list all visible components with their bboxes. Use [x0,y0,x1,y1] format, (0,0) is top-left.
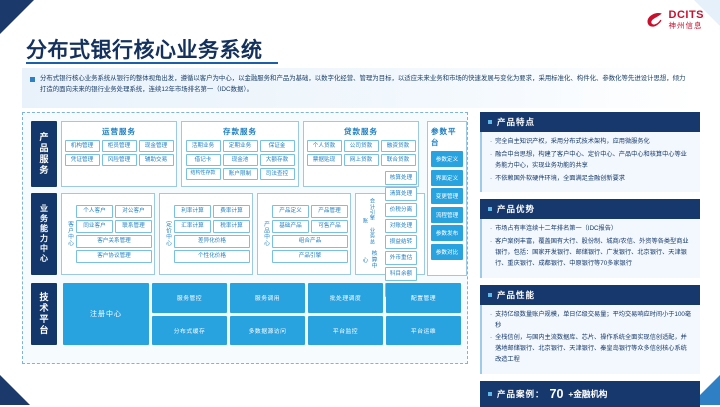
intro-text: 分布式银行核心业务系统从银行的整体视角出发，遵循以客户为中心，以金融服务和产品为… [40,73,690,108]
info-panel: 产品特点 ·完全自主知识产权，采用分布式技术架构，应用微服务化 ·融合中台思想，… [480,112,700,407]
capability-cell[interactable]: 清算处理 [385,187,417,201]
bullet-square-icon [488,120,492,124]
cell-list: 机构管理 柜员管理 现金管理 凭证管理 风险管理 辅助交易 [64,140,174,184]
product-case-number: 70 [550,387,564,401]
service-cell[interactable]: 结构性存款 [186,168,221,180]
list-item-text: 支持亿级数量账户规模，单日亿级交易量；平均交易响应时间小于100毫秒 [495,310,692,332]
list-item: ·支持亿级数量账户规模，单日亿级交易量；平均交易响应时间小于100毫秒 [490,310,692,332]
bullet-square-icon [488,293,492,297]
service-cell[interactable]: 票据贴现 [307,154,342,166]
capability-cell[interactable]: 损益结转 [385,235,417,249]
card-body: ·支持亿级数量账户规模，单日亿级交易量；平均交易响应时间小于100毫秒 ·全栈信… [480,305,700,374]
list-item: ·完全自主知识产权，采用分布式技术架构，应用微服务化 [490,137,692,148]
capability-cell[interactable]: 科目余额 [385,267,417,281]
param-cell[interactable]: 参数发布 [431,225,463,241]
bullet-dot-icon: · [490,174,492,185]
capability-cell[interactable]: 对公客户 [115,205,152,218]
tech-cell[interactable]: 批处理调度 [308,283,383,313]
tech-cell[interactable]: 多数据源访问 [230,316,305,346]
bullet-dot-icon: · [490,310,492,332]
tech-cell[interactable]: 服务管控 [152,283,227,313]
group-operations-services: 运营服务 机构管理 柜员管理 现金管理 凭证管理 风险管理 辅助交易 [61,121,177,187]
param-platform-column: 参数平台 参数定义 界面定义 变更管理 流程管理 参数发布 参数对比 [427,121,467,276]
tech-cell[interactable]: 平台运维 [386,316,461,346]
capability-accounting-center: 会计引擎 业务总账 核算中心 核算处理 清算处理 价税分离 对账处理 损益结转 … [355,193,425,275]
corner-decoration-top-left [0,0,34,34]
group-title: 存款服务 [184,124,296,140]
card-header: 产品性能 [480,285,700,305]
bullet-square-icon [30,77,35,82]
card-header: 产品特点 [480,112,700,132]
capability-cell[interactable]: 税率计算 [213,220,250,233]
layer-tech-platform: 技术平台 注册中心 服务管控 服务调用 批处理调度 配置管理 分布式缓存 多数据… [31,283,461,345]
capability-cell-wide[interactable]: 组合产品 [272,235,348,248]
param-cell[interactable]: 参数对比 [431,244,463,260]
cell-list: 核算处理 清算处理 价税分离 对账处理 损益结转 外币重估 科目余额 月结年结 [380,196,422,272]
param-cell[interactable]: 变更管理 [431,188,463,204]
capability-cell-wide[interactable]: 产品引擎 [272,250,348,263]
bullet-square-icon [488,207,492,211]
page-title: 分布式银行核心业务系统 [26,34,263,64]
intro-banner: 分布式银行核心业务系统从银行的整体视角出发，遵循以客户为中心，以金融服务和产品为… [22,68,698,108]
tech-platform-body: 注册中心 服务管控 服务调用 批处理调度 配置管理 分布式缓存 多数据源访问 平… [63,283,461,345]
logo-text-en: DCITS [669,10,705,21]
service-cell[interactable]: 现金管理 [139,140,174,152]
bullet-square-icon [488,392,492,396]
tech-cell[interactable]: 分布式缓存 [152,316,227,346]
cell-list: 个人客户 对公客户 同业客户 联系管理 客户关系管理 客户协议管理 [76,196,152,272]
capability-cell[interactable]: 基础产品 [272,220,309,233]
logo-text-cn: 神州信息 [669,22,705,30]
capability-customer-center: 客户中心 个人客户 对公客户 同业客户 联系管理 客户关系管理 客户协议管理 [61,193,155,275]
param-cell[interactable]: 流程管理 [431,207,463,223]
tech-cell[interactable]: 平台监控 [308,316,383,346]
list-item-text: 客户案例丰富，覆盖国有大行、股份制、城商/农信、外资等各类型商业银行，包括：国家… [495,237,692,270]
service-cell[interactable]: 融资贷款 [381,140,416,152]
cell-list: 产品定义 产品管理 基础产品 可售产品 组合产品 产品引擎 [272,196,348,272]
capability-side-label: 客户中心 [64,196,76,272]
list-item: ·市场占有率连续十二年排名第一（IDC报告） [490,224,692,235]
service-cell[interactable]: 网上贷款 [344,154,379,166]
capability-side-label: 核算中心 [360,248,378,272]
service-cell[interactable]: 风险管理 [102,154,137,166]
list-item: ·客户案例丰富，覆盖国有大行、股份制、城商/农信、外资等各类型商业银行，包括：国… [490,237,692,270]
card-product-performance: 产品性能 ·支持亿级数量账户规模，单日亿级交易量；平均交易响应时间小于100毫秒… [480,285,700,374]
service-cell[interactable]: 保证金 [260,140,295,152]
service-cell[interactable]: 机构管理 [65,140,100,152]
bullet-dot-icon: · [490,333,492,366]
capability-cell[interactable]: 价税分离 [385,203,417,217]
capability-side-label: 定价中心 [162,196,174,272]
layer-capability-centers: 业务能力中心 客户中心 个人客户 对公客户 同业客户 联系管理 客户关系管理 客… [31,193,425,275]
bullet-dot-icon: · [490,150,492,172]
capability-cell-wide[interactable]: 差异化价格 [174,235,250,248]
card-title: 产品性能 [497,289,535,301]
list-item-text: 市场占有率连续十二年排名第一（IDC报告） [495,224,617,235]
list-item: ·融合中台思想，构建了客户中心、定价中心、产品中心和核算中心等业务能力中心，实现… [490,150,692,172]
layer-label-capability-centers: 业务能力中心 [31,193,57,275]
corner-decoration-bottom-left [0,375,30,405]
service-cell[interactable]: 个人贷款 [307,140,342,152]
card-body: ·完全自主知识产权，采用分布式技术架构，应用微服务化 ·融合中台思想，构建了客户… [480,132,700,192]
capability-product-center: 产品中心 产品定义 产品管理 基础产品 可售产品 组合产品 产品引擎 [257,193,351,275]
capability-cell[interactable]: 利率计算 [174,205,211,218]
list-item-text: 不依赖国外软硬件环境，全面满足金融创新要求 [495,174,625,185]
brand-logo: DCITS 神州信息 [645,10,705,30]
capability-side-label: 产品中心 [260,196,272,272]
capability-cell[interactable]: 产品定义 [272,205,309,218]
title-underline [26,62,278,64]
list-item-text: 全栈信创，与国内主流数据库、芯片、操作系统全面实现信创适配，并落地邮储银行、北京… [495,333,692,366]
capability-cell-wide[interactable]: 客户协议管理 [76,250,152,263]
card-product-features: 产品特点 ·完全自主知识产权，采用分布式技术架构，应用微服务化 ·融合中台思想，… [480,112,700,192]
capability-cell[interactable]: 对账处理 [385,219,417,233]
bullet-dot-icon: · [490,224,492,235]
service-cell[interactable]: 凭证管理 [65,154,100,166]
service-cell[interactable]: 现金池 [223,154,258,166]
group-title: 运营服务 [64,124,174,140]
service-cell[interactable]: 柜员管理 [102,140,137,152]
card-product-advantages: 产品优势 ·市场占有率连续十二年排名第一（IDC报告） ·客户案例丰富，覆盖国有… [480,199,700,277]
capability-cell[interactable]: 汇率计算 [174,220,211,233]
bullet-dot-icon: · [490,137,492,148]
service-cell[interactable]: 辅助交易 [139,154,174,166]
service-cell[interactable]: 借记卡 [186,154,221,166]
capability-pricing-center: 定价中心 利率计算 费率计算 汇率计算 税率计算 差异化价格 个性化价格 [159,193,253,275]
capability-cell[interactable]: 外币重估 [385,251,417,265]
capability-cell[interactable]: 可售产品 [311,220,348,233]
card-title: 产品优势 [497,203,535,215]
product-case-label: 产品案例： [497,388,545,400]
tech-cell[interactable]: 服务调用 [230,283,305,313]
capability-cell[interactable]: 核算处理 [385,171,417,185]
capability-cell[interactable]: 同业客户 [76,220,113,233]
capability-side-label-secondary: 会计引擎 业务总账 [362,196,376,247]
cell-list: 利率计算 费率计算 汇率计算 税率计算 差异化价格 个性化价格 [174,196,250,272]
service-cell[interactable]: 大额存款 [260,154,295,166]
card-header: 产品优势 [480,199,700,219]
capability-cell[interactable]: 费率计算 [213,205,250,218]
card-body: ·市场占有率连续十二年排名第一（IDC报告） ·客户案例丰富，覆盖国有大行、股份… [480,219,700,277]
service-cell[interactable]: 定期业务 [223,140,258,152]
capability-cell-wide[interactable]: 客户关系管理 [76,235,152,248]
service-cell[interactable]: 联合贷款 [381,154,416,166]
service-cell[interactable]: 活期业务 [186,140,221,152]
architecture-diagram: 产品服务 运营服务 机构管理 柜员管理 现金管理 凭证管理 风险管理 辅助交易 … [22,112,468,364]
product-case-banner: 产品案例： 70 +金融机构 [480,381,700,407]
group-title: 贷款服务 [306,124,416,140]
param-cell[interactable]: 参数定义 [431,151,463,167]
capability-cell[interactable]: 联系管理 [115,220,152,233]
capability-side-label-group: 会计引擎 业务总账 核算中心 [358,196,380,272]
service-cell[interactable]: 司法查控 [260,168,295,180]
group-deposit-services: 存款服务 活期业务 定期业务 保证金 借记卡 现金池 大额存款 结构性存款 账户… [181,121,299,187]
capability-cell[interactable]: 个人客户 [76,205,113,218]
tech-cell[interactable]: 配置管理 [386,283,461,313]
param-platform-title: 参数平台 [431,124,463,151]
card-title: 产品特点 [497,116,535,128]
layer-label-tech-platform: 技术平台 [31,283,57,345]
service-cell[interactable]: 公司贷款 [344,140,379,152]
capability-cell[interactable]: 产品管理 [311,205,348,218]
tech-registry-center[interactable]: 注册中心 [63,283,149,345]
layer-label-product-services: 产品服务 [31,121,57,187]
tech-cell-grid: 服务管控 服务调用 批处理调度 配置管理 分布式缓存 多数据源访问 平台监控 平… [152,283,461,345]
service-cell[interactable]: 账户限制 [223,168,258,180]
bullet-dot-icon: · [490,237,492,270]
product-case-suffix: +金融机构 [568,388,607,400]
list-item: ·全栈信创，与国内主流数据库、芯片、操作系统全面实现信创适配，并落地邮储银行、北… [490,333,692,366]
list-item-text: 融合中台思想，构建了客户中心、定价中心、产品中心和核算中心等业务能力中心，实现业… [495,150,692,172]
list-item-text: 完全自主知识产权，采用分布式技术架构，应用微服务化 [495,137,650,148]
cell-list: 活期业务 定期业务 保证金 借记卡 现金池 大额存款 结构性存款 账户限制 司法… [184,140,296,184]
list-item: ·不依赖国外软硬件环境，全面满足金融创新要求 [490,174,692,185]
dcits-swirl-icon [645,10,665,30]
param-cell[interactable]: 界面定义 [431,170,463,186]
capability-cell-wide[interactable]: 个性化价格 [174,250,250,263]
